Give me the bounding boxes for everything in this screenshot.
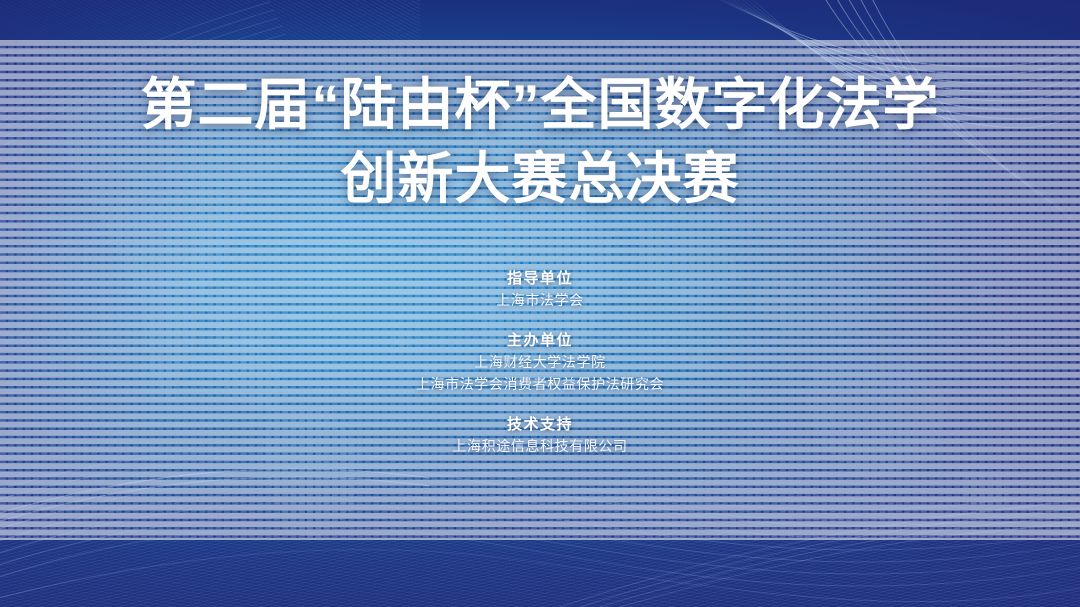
credits-section: 指导单位 上海市法学会 主办单位 上海财经大学法学院 上海市法学会消费者权益保护… — [0, 268, 1080, 457]
credit-line: 上海财经大学法学院 — [0, 351, 1080, 373]
credit-block-tech-support: 技术支持 上海积途信息科技有限公司 — [0, 414, 1080, 457]
credit-heading: 主办单位 — [0, 330, 1080, 351]
credit-line: 上海积途信息科技有限公司 — [0, 435, 1080, 457]
credit-line: 上海市法学会 — [0, 289, 1080, 311]
poster-title: 第二届“陆由杯”全国数字化法学 创新大赛总决赛 — [0, 68, 1080, 216]
credit-block-guidance: 指导单位 上海市法学会 — [0, 268, 1080, 311]
poster-canvas: 第二届“陆由杯”全国数字化法学 创新大赛总决赛 指导单位 上海市法学会 主办单位… — [0, 0, 1080, 607]
poster-content: 第二届“陆由杯”全国数字化法学 创新大赛总决赛 指导单位 上海市法学会 主办单位… — [0, 0, 1080, 607]
poster-title-line-2: 创新大赛总决赛 — [0, 142, 1080, 216]
credit-heading: 技术支持 — [0, 414, 1080, 435]
credit-line: 上海市法学会消费者权益保护法研究会 — [0, 373, 1080, 395]
credit-block-organizer: 主办单位 上海财经大学法学院 上海市法学会消费者权益保护法研究会 — [0, 330, 1080, 395]
poster-title-line-1: 第二届“陆由杯”全国数字化法学 — [141, 73, 940, 136]
credit-heading: 指导单位 — [0, 268, 1080, 289]
